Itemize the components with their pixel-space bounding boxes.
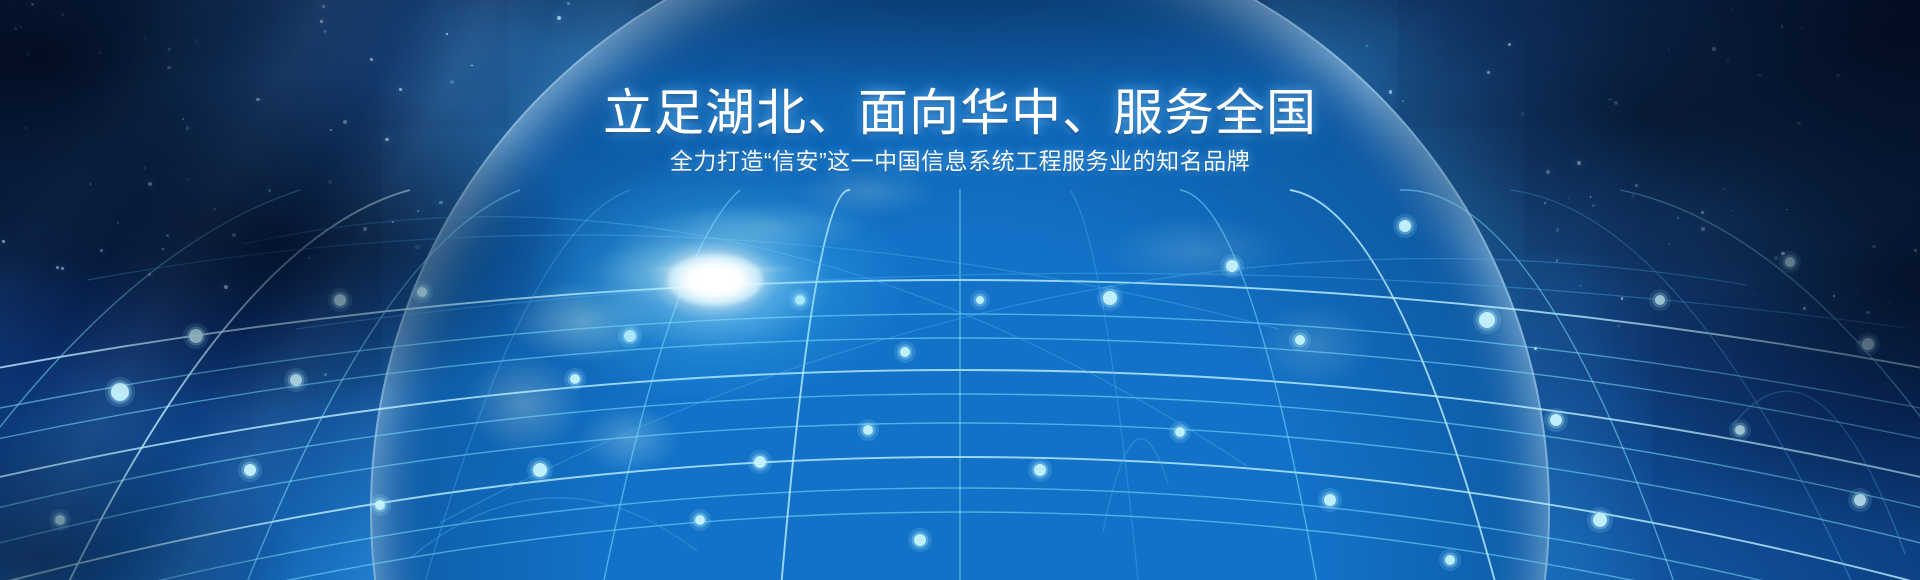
hero-banner: 立足湖北、面向华中、服务全国 全力打造“信安”这一中国信息系统工程服务业的知名品… — [0, 0, 1920, 580]
banner-subheadline: 全力打造“信安”这一中国信息系统工程服务业的知名品牌 — [0, 150, 1920, 173]
banner-headline: 立足湖北、面向华中、服务全国 — [0, 88, 1920, 138]
